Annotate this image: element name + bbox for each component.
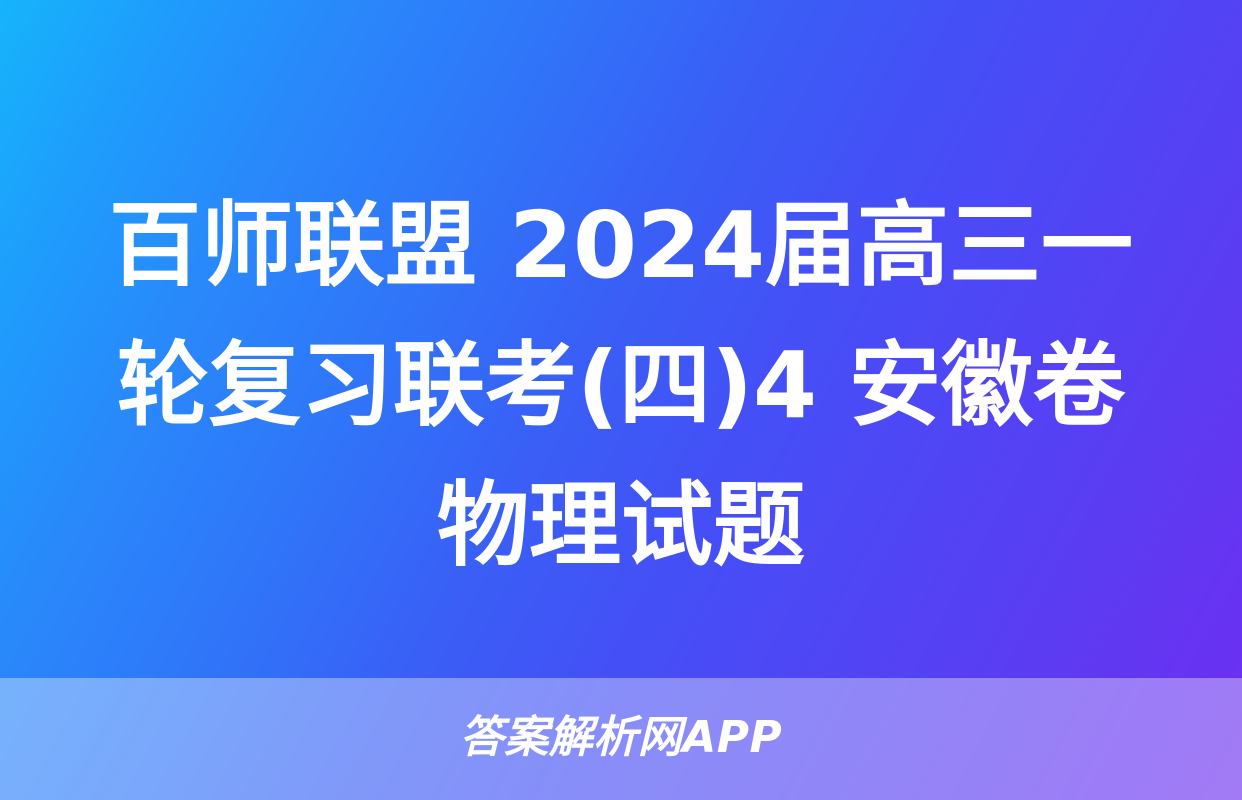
page-title: 百师联盟 2024届高三一 轮复习联考(四)4 安徽卷 物理试题 <box>0 176 1242 596</box>
title-line-1: 百师联盟 2024届高三一 <box>60 176 1182 316</box>
title-line-3: 物理试题 <box>60 456 1182 596</box>
exam-cover-card: 百师联盟 2024届高三一 轮复习联考(四)4 安徽卷 物理试题 答案解析网AP… <box>0 0 1242 800</box>
app-watermark-label: 答案解析网APP <box>460 716 783 760</box>
watermark-band: 答案解析网APP <box>0 678 1242 800</box>
title-line-2: 轮复习联考(四)4 安徽卷 <box>60 316 1182 456</box>
